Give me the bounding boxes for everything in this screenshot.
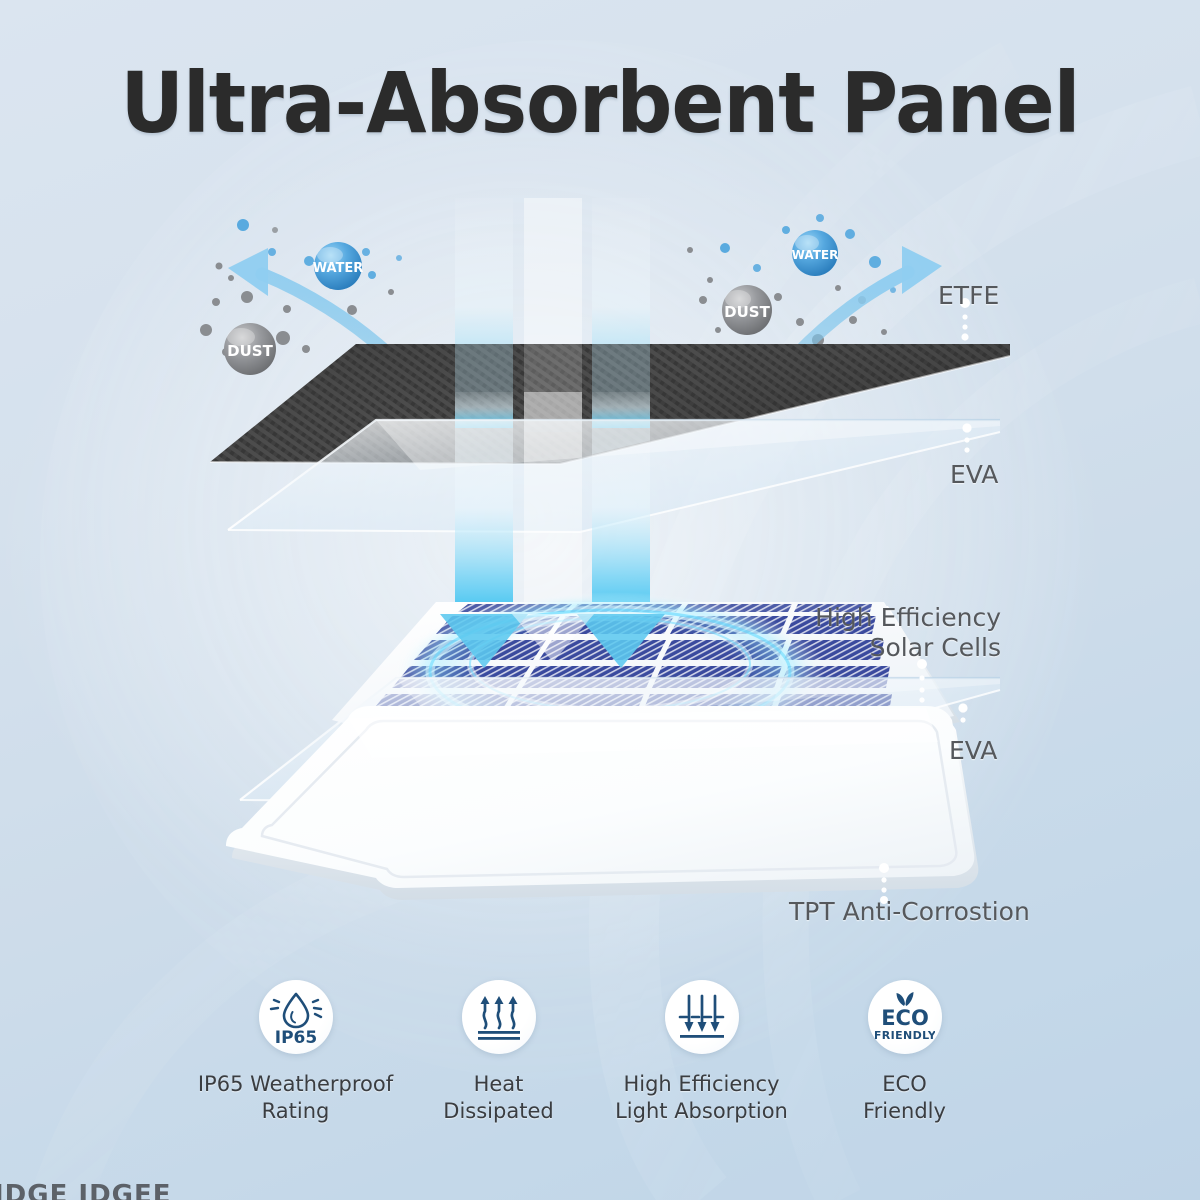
ip65-icon-circle: IP65: [259, 980, 333, 1054]
callout-label-etfe: ETFE: [938, 281, 999, 311]
light-absorption-icon: [676, 992, 728, 1042]
dust-badge-label-right: DUST: [724, 303, 770, 321]
exploded-panel-illustration: WATER DUST: [0, 0, 1200, 980]
dust-badge-label-left: DUST: [227, 342, 273, 360]
eco-icon-subtext: FRIENDLY: [875, 1029, 935, 1042]
feature-ip65: IP65 IP65 Weatherproof Rating: [194, 980, 397, 1125]
feature-label-ip65: IP65 Weatherproof Rating: [198, 1071, 393, 1125]
feature-list: IP65 IP65 Weatherproof Rating: [0, 980, 1200, 1170]
feature-label-eco: ECO Friendly: [863, 1071, 946, 1125]
callout-label-eva-bottom: EVA: [949, 736, 997, 766]
bottom-watermark: IDGE IDGEE: [0, 1180, 172, 1200]
heat-dissipation-icon: [473, 992, 525, 1042]
feature-eco: ECO FRIENDLY ECO Friendly: [803, 980, 1006, 1125]
feature-label-heat: Heat Dissipated: [443, 1071, 553, 1125]
water-badge-left: WATER: [313, 242, 364, 290]
eco-leaf-icon: ECO FRIENDLY: [875, 989, 935, 1045]
eco-icon-circle: ECO FRIENDLY: [868, 980, 942, 1054]
eco-icon-text: ECO: [881, 1006, 929, 1030]
layer-tpt-backsheet: [226, 706, 978, 900]
heat-icon-circle: [462, 980, 536, 1054]
water-badge-right: WATER: [792, 230, 839, 276]
water-drop-ip65-icon: IP65: [266, 988, 326, 1046]
water-badge-label-right: WATER: [792, 248, 839, 262]
dust-badge-left: DUST: [224, 323, 276, 375]
particle-group-right: WATER DUST: [687, 214, 942, 355]
water-badge-label-left: WATER: [313, 261, 364, 276]
feature-label-light-absorption: High Efficiency Light Absorption: [615, 1071, 788, 1125]
feature-light-absorption: High Efficiency Light Absorption: [600, 980, 803, 1125]
light-absorption-icon-circle: [665, 980, 739, 1054]
callout-label-eva-top: EVA: [950, 460, 998, 490]
infographic-canvas: Ultra-Absorbent Panel: [0, 0, 1200, 1200]
feature-heat: Heat Dissipated: [397, 980, 600, 1125]
callout-label-tpt: TPT Anti-Corrostion: [789, 897, 1030, 927]
ip65-icon-text: IP65: [274, 1028, 316, 1046]
callout-label-solar-cells: High Efficiency Solar Cells: [636, 603, 1001, 663]
dust-badge-right: DUST: [722, 285, 772, 335]
